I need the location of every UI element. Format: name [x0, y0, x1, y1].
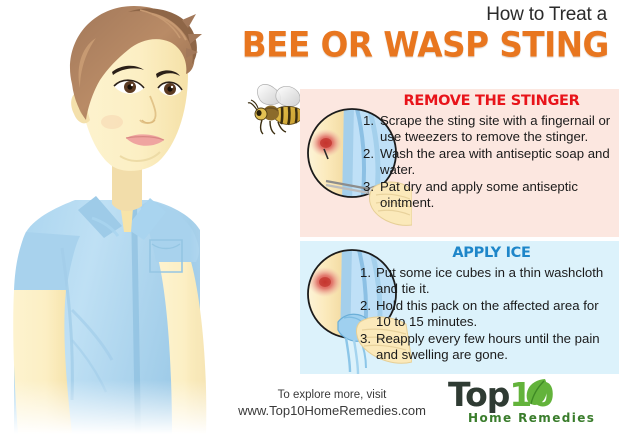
- person-illustration: [0, 0, 300, 434]
- step-text: Scrape the sting site with a fingernail …: [380, 113, 610, 144]
- step-text: Wash the area with antiseptic soap and w…: [380, 146, 610, 177]
- top10-home-remedies-logo[interactable]: Top10 Home Remedies: [448, 378, 613, 430]
- step-item: 1. Scrape the sting site with a fingerna…: [360, 113, 616, 146]
- panel-apply-ice: APPLY ICE 1. Put some ice cubes in a thi…: [300, 241, 619, 374]
- title-kicker: How to Treat a: [486, 4, 607, 26]
- step-item: 2. Wash the area with antiseptic soap an…: [360, 146, 616, 179]
- step-number: 2.: [360, 146, 374, 162]
- panel-heading-remove-stinger: REMOVE THE STINGER: [370, 93, 613, 109]
- infographic-canvas: How to Treat a BEE OR WASP STING: [0, 0, 619, 434]
- footer-line-2: www.Top10HomeRemedies.com: [232, 403, 432, 418]
- panel-remove-stinger: REMOVE THE STINGER 1. Scrape the sting s…: [300, 89, 619, 237]
- steps-list-remove-stinger: 1. Scrape the sting site with a fingerna…: [360, 113, 616, 211]
- bee-illustration: [246, 78, 308, 140]
- step-text: Reapply every few hours until the pain a…: [376, 331, 600, 362]
- step-text: Hold this pack on the affected area for …: [376, 298, 599, 329]
- step-item: 2. Hold this pack on the affected area f…: [360, 298, 616, 331]
- step-item: 3. Pat dry and apply some antiseptic oin…: [360, 179, 616, 212]
- footer-line-1: To explore more, visit: [232, 388, 432, 403]
- logo-wordmark-bottom: Home Remedies: [468, 411, 595, 425]
- leaf-icon: [524, 377, 548, 407]
- footer-credit: To explore more, visit www.Top10HomeReme…: [232, 388, 432, 418]
- step-text: Pat dry and apply some antiseptic ointme…: [380, 179, 578, 210]
- step-text: Put some ice cubes in a thin washcloth a…: [376, 265, 603, 296]
- step-item: 1. Put some ice cubes in a thin washclot…: [360, 265, 616, 298]
- panel-heading-apply-ice: APPLY ICE: [370, 245, 613, 261]
- page-title: BEE OR WASP STING: [242, 24, 609, 65]
- person-head: [70, 6, 202, 171]
- step-number: 1.: [360, 113, 374, 129]
- step-number: 1.: [360, 265, 374, 281]
- logo-word-top: Top: [448, 375, 509, 414]
- step-number: 2.: [360, 298, 374, 314]
- steps-list-apply-ice: 1. Put some ice cubes in a thin washclot…: [360, 265, 616, 363]
- step-number: 3.: [360, 179, 374, 195]
- step-number: 3.: [360, 331, 374, 347]
- step-item: 3. Reapply every few hours until the pai…: [360, 331, 616, 364]
